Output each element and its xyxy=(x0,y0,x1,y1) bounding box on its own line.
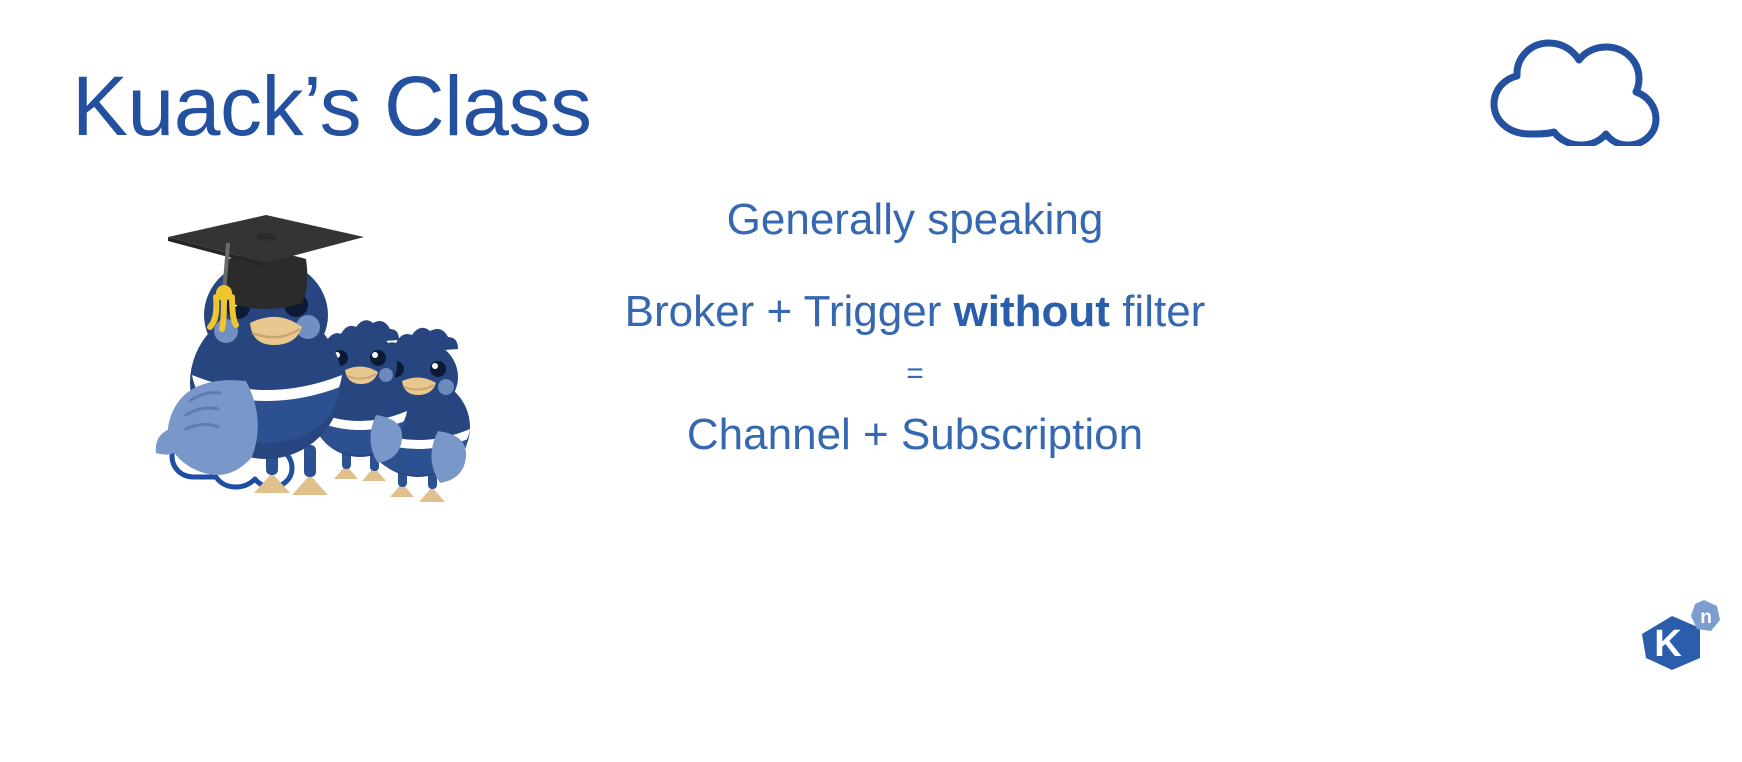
body-line-channel-subscription: Channel + Subscription xyxy=(520,411,1310,459)
slide-root: Kuack’s Class xyxy=(0,0,1742,762)
text-without-emphasis: without xyxy=(954,287,1110,336)
body-text-block: Generally speaking Broker + Trigger with… xyxy=(520,196,1310,459)
page-title: Kuack’s Class xyxy=(72,62,591,150)
knative-logo: K n xyxy=(1638,594,1722,678)
logo-letter-n: n xyxy=(1700,607,1712,628)
body-line-broker-trigger: Broker + Trigger without filter xyxy=(520,288,1310,336)
logo-letter-k: K xyxy=(1654,623,1682,665)
mascot-graduate-bird xyxy=(156,215,364,495)
equals-sign: = xyxy=(520,359,1310,389)
text-filter-suffix: filter xyxy=(1110,287,1205,336)
body-line-generally-speaking: Generally speaking xyxy=(520,196,1310,244)
graduate-bird-mascot-illustration xyxy=(150,215,520,525)
text-broker-trigger-prefix: Broker + Trigger xyxy=(625,287,954,336)
cloud-outline-icon xyxy=(1478,24,1678,146)
